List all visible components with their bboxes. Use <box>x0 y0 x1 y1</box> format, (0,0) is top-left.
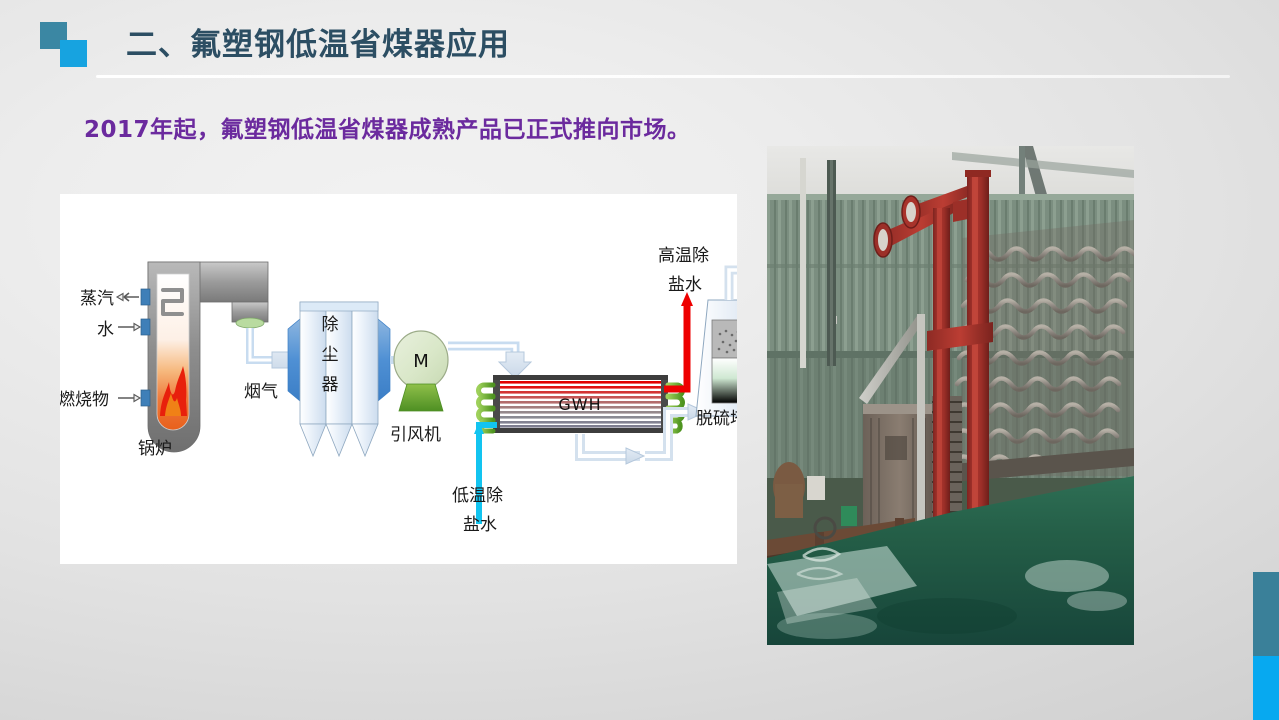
label-cold-water-1: 低温除 <box>452 486 503 506</box>
label-water: 水 <box>97 320 114 340</box>
label-fan: 引风机 <box>390 425 441 445</box>
label-gwh: GWH <box>558 395 601 414</box>
label-cold-water-2: 盐水 <box>463 515 497 535</box>
slide-canvas: 二、氟塑钢低温省煤器应用 2017年起，氟塑钢低温省煤器成熟产品已正式推向市场。 <box>0 0 1279 720</box>
process-flow-diagram: 蒸汽 水 燃烧物 锅炉 烟气 除 尘 器 M 引风机 <box>60 194 737 564</box>
label-flue-gas: 烟气 <box>244 382 278 402</box>
label-fan-motor: M <box>413 351 429 372</box>
label-hot-water-2: 盐水 <box>668 275 702 295</box>
label-dust-1: 除 <box>322 315 339 335</box>
page-title: 二、氟塑钢低温省煤器应用 <box>126 19 510 64</box>
label-hot-water-1: 高温除 <box>658 246 709 266</box>
label-desulf-tower: 脱硫塔 <box>696 409 737 429</box>
label-dust-2: 尘 <box>322 345 339 365</box>
label-boiler: 锅炉 <box>138 439 172 459</box>
site-photograph <box>767 146 1134 645</box>
header-divider <box>96 75 1230 78</box>
edge-accent-top <box>1253 572 1279 656</box>
logo-square-bright <box>60 40 87 67</box>
label-steam: 蒸汽 <box>80 289 114 309</box>
subtitle-text: 2017年起，氟塑钢低温省煤器成熟产品已正式推向市场。 <box>84 110 691 144</box>
label-dust-3: 器 <box>322 375 339 395</box>
label-fuel: 燃烧物 <box>60 390 109 410</box>
edge-accent-bottom <box>1253 656 1279 720</box>
